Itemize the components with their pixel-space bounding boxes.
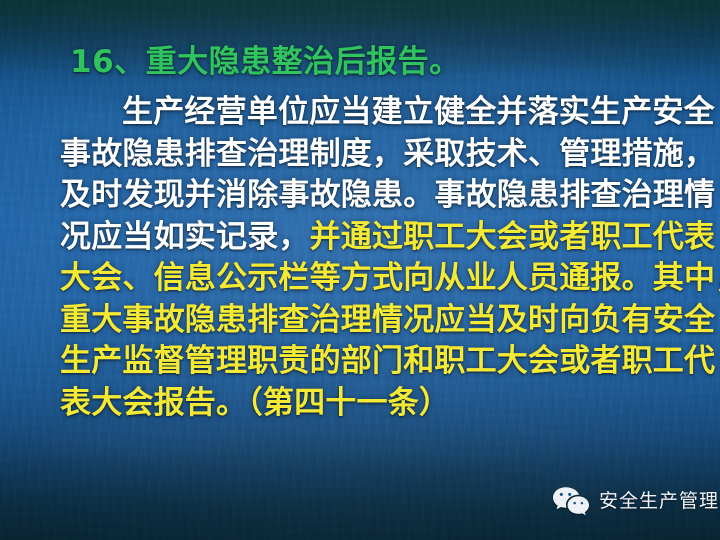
body-text-segment: 并通过职工大会或者职工代表 xyxy=(310,219,716,255)
body-line: 重大事故隐患排查治理情况应当及时向负有安全 xyxy=(60,300,676,342)
body-line: 大会、信息公示栏等方式向从业人员通报。其中， xyxy=(60,258,676,300)
body-text-segment: 况应当如实记录， xyxy=(60,219,310,255)
body-text-segment: 大会、信息公示栏等方式向从业人员通报。其中， xyxy=(60,260,720,296)
slide-body-text: 生产经营单位应当建立健全并落实生产安全事故隐患排查治理制度，采取技术、管理措施，… xyxy=(60,92,676,424)
slide-title: 16、重大隐患整治后报告。 xyxy=(70,42,461,82)
body-text-segment: 及时发现并消除事故隐患。事故隐患排查治理情 xyxy=(60,177,715,213)
body-line: 况应当如实记录，并通过职工大会或者职工代表 xyxy=(60,217,676,259)
slide-content: 16、重大隐患整治后报告。 生产经营单位应当建立健全并落实生产安全事故隐患排查治… xyxy=(0,0,720,540)
wechat-icon xyxy=(552,486,590,516)
body-text-segment: 表大会报告。（第四十一条） xyxy=(60,385,450,421)
body-text-segment: 事故隐患排查治理制度，采取技术、管理措施， xyxy=(60,136,715,172)
wechat-watermark: 安全生产管理 xyxy=(552,486,719,516)
body-line: 及时发现并消除事故隐患。事故隐患排查治理情 xyxy=(60,175,676,217)
body-line: 生产经营单位应当建立健全并落实生产安全 xyxy=(60,92,676,134)
body-line: 事故隐患排查治理制度，采取技术、管理措施， xyxy=(60,134,676,176)
body-text-segment: 生产监督管理职责的部门和职工大会或者职工代 xyxy=(60,343,715,379)
body-line: 生产监督管理职责的部门和职工大会或者职工代 xyxy=(60,341,676,383)
presentation-slide: 16、重大隐患整治后报告。 生产经营单位应当建立健全并落实生产安全事故隐患排查治… xyxy=(0,0,720,540)
body-text-segment: 重大事故隐患排查治理情况应当及时向负有安全 xyxy=(60,302,715,338)
body-text-segment: 生产经营单位应当建立健全并落实生产安全 xyxy=(122,94,715,130)
watermark-label: 安全生产管理 xyxy=(599,492,719,511)
body-line: 表大会报告。（第四十一条） xyxy=(60,383,676,425)
